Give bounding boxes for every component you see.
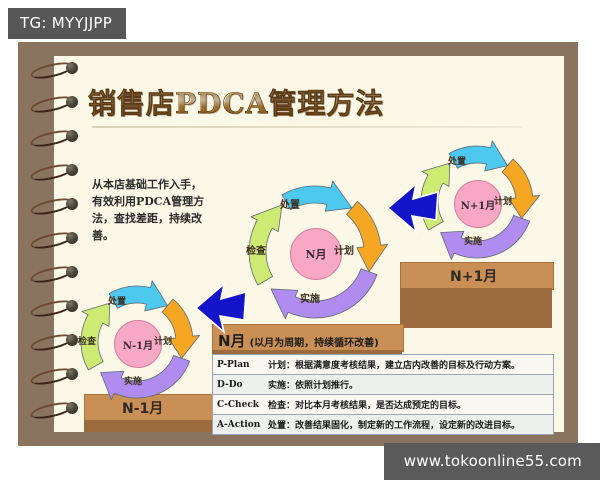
step-riser-n-plus-1: [400, 288, 552, 328]
n-month-heading-main: N月: [218, 330, 246, 351]
spiral-ring: [30, 232, 76, 245]
pdca-segment-action: [282, 181, 352, 211]
cycle-hub-n-minus-1: N-1月: [114, 320, 162, 368]
table-row: A-Action 处置：改善结果固化，制定新的工作流程，设定新的改进目标。: [213, 415, 553, 435]
cycle-hub-n-plus-1: N+1月: [454, 180, 502, 228]
site-watermark-badge: www.tokoonline55.com: [384, 443, 600, 480]
pdca-code-d: D-Do: [217, 380, 263, 390]
pdca-segment-plan: [502, 159, 540, 218]
tg-watermark-badge: TG: MYYJJPP: [8, 8, 126, 39]
page-title: 销售店PDCA管理方法: [88, 82, 384, 122]
spiral-ring: [30, 96, 76, 109]
table-row: P-Plan 计划：根据满意度考核结果，建立店内改善的目标及行动方案。: [213, 355, 553, 375]
slide-screenshot: 销售店PDCA管理方法 从本店基础工作入手，有效利用PDCA管理方法，查找差距，…: [0, 0, 600, 480]
spiral-ring: [30, 164, 76, 177]
spiral-ring: [30, 368, 76, 381]
pdca-text-c: 检查：对比本月考核结果，是否达成预定的目标。: [268, 398, 466, 411]
pdca-segment-plan: [346, 201, 387, 271]
table-row: D-Do 实施：依照计划推行。: [213, 375, 553, 395]
title-underline: [92, 126, 522, 128]
step-riser-n-minus-1: [84, 420, 214, 432]
pdca-code-p: P-Plan: [217, 360, 263, 370]
n-month-heading-note: (以月为周期，持续循环改善): [250, 334, 379, 349]
spiral-ring: [30, 266, 76, 279]
spiral-ring: [30, 402, 76, 415]
pdca-text-p: 计划：根据满意度考核结果，建立店内改善的目标及行动方案。: [268, 358, 520, 371]
pdca-segment-action: [109, 281, 168, 311]
spiral-ring: [30, 300, 76, 313]
spiral-binding: [30, 56, 78, 432]
spiral-ring: [30, 198, 76, 211]
spiral-ring: [30, 62, 76, 75]
pdca-segment-check: [81, 303, 110, 370]
pdca-cycle-n-minus-1: N-1月 处置 计划 实施 检查: [72, 282, 202, 402]
pdca-definition-table: P-Plan 计划：根据满意度考核结果，建立店内改善的目标及行动方案。 D-Do…: [212, 354, 554, 435]
spiral-ring: [30, 334, 76, 347]
pdca-segment-check: [249, 205, 282, 285]
connector-arrow-n-to-n-plus-1: [386, 182, 448, 236]
pdca-text-d: 实施：依照计划推行。: [268, 378, 358, 391]
table-row: C-Check 检查：对比本月考核结果，是否达成预定的目标。: [213, 395, 553, 415]
n-month-description-block: N月 (以月为周期，持续循环改善) P-Plan 计划：根据满意度考核结果，建立…: [212, 328, 558, 435]
pdca-code-c: C-Check: [217, 400, 263, 410]
pdca-text-a: 处置：改善结果固化，制定新的工作流程，设定新的改进目标。: [268, 418, 520, 431]
pdca-cycle-n: N月 处置 计划 实施 检查: [240, 182, 390, 322]
step-label-n-plus-1: N+1月: [450, 266, 497, 286]
spiral-ring: [30, 130, 76, 143]
intro-paragraph: 从本店基础工作入手，有效利用PDCA管理方法，查找差距，持续改善。: [92, 176, 212, 244]
n-month-heading: N月 (以月为周期，持续循环改善): [212, 328, 558, 354]
pdca-segment-action: [449, 141, 508, 171]
cycle-hub-n: N月: [290, 228, 342, 280]
pdca-code-a: A-Action: [217, 420, 263, 430]
